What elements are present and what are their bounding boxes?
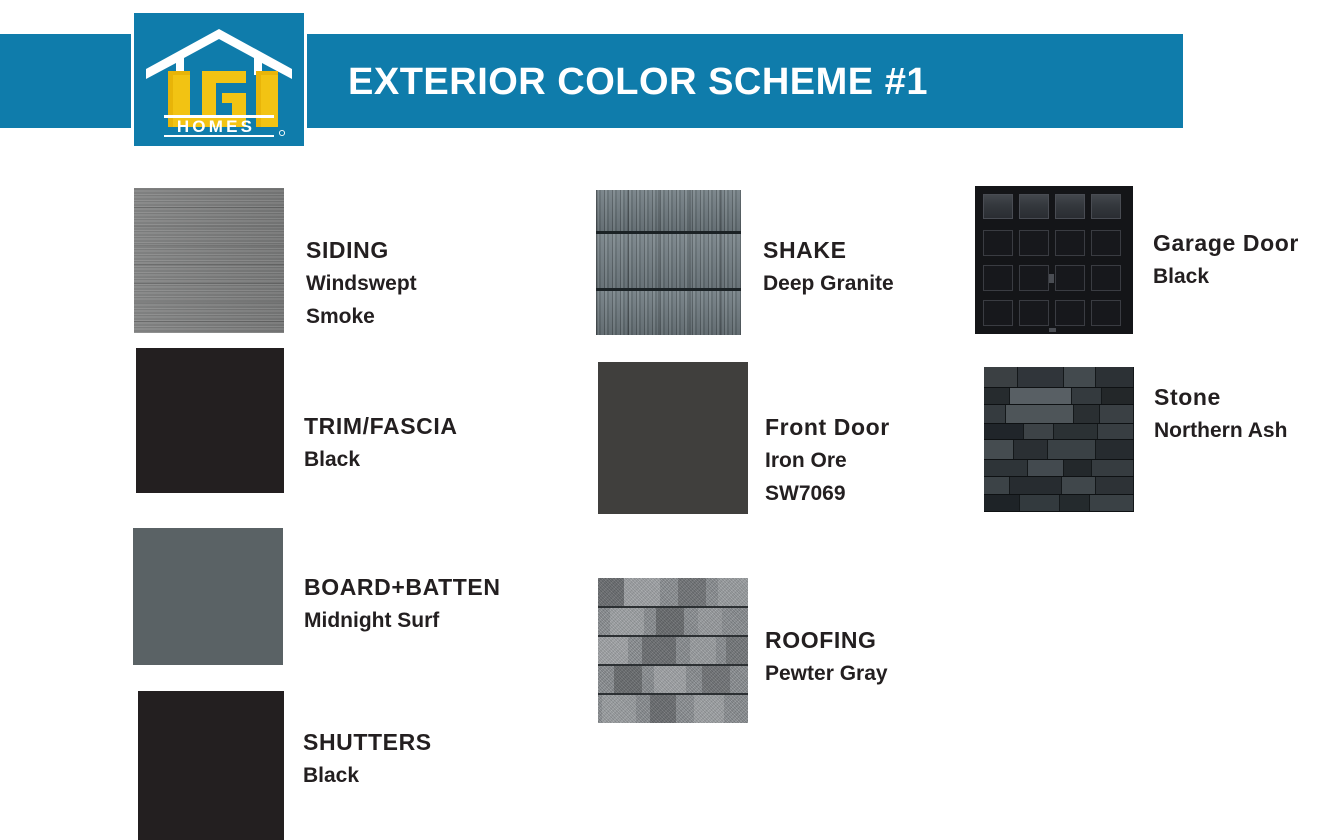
roofing-swatch (598, 578, 748, 723)
shake-swatch (596, 190, 741, 335)
siding-label-sub2: Smoke (306, 300, 417, 333)
garage-door-label-title: Garage Door (1153, 227, 1299, 260)
garage-door-lock-icon (1049, 328, 1056, 332)
trim-fascia-label-sub1: Black (304, 443, 458, 476)
stone-label-sub1: Northern Ash (1154, 414, 1287, 447)
siding-label-sub1: Windswept (306, 267, 417, 300)
swatch-item-trim-fascia: TRIM/FASCIA Black (136, 348, 458, 493)
shake-label-sub1: Deep Granite (763, 267, 894, 300)
swatch-item-shake: SHAKE Deep Granite (596, 190, 894, 335)
shake-label-title: SHAKE (763, 234, 894, 267)
swatch-item-stone: Stone Northern Ash (984, 367, 1287, 512)
front-door-label-sub1: Iron Ore (765, 444, 890, 477)
svg-text:HOMES: HOMES (177, 117, 255, 136)
front-door-label-title: Front Door (765, 411, 890, 444)
swatch-item-garage-door: Garage Door Black (975, 186, 1299, 334)
front-door-label-sub2: SW7069 (765, 477, 890, 510)
shutters-swatch (138, 691, 284, 840)
roofing-label-title: ROOFING (765, 624, 888, 657)
garage-door-label-sub1: Black (1153, 260, 1299, 293)
siding-swatch (134, 188, 284, 333)
garage-door-handle-icon (1049, 274, 1054, 283)
stone-swatch (984, 367, 1134, 512)
swatch-item-siding: SIDING Windswept Smoke (134, 188, 417, 333)
board-batten-label-sub1: Midnight Surf (304, 604, 501, 637)
front-door-swatch (598, 362, 748, 514)
shutters-label-title: SHUTTERS (303, 726, 432, 759)
lgi-homes-logo: HOMES (134, 13, 304, 146)
page-title: EXTERIOR COLOR SCHEME #1 (348, 60, 1148, 104)
board-batten-swatch (133, 528, 283, 665)
roofing-label-sub1: Pewter Gray (765, 657, 888, 690)
swatch-item-roofing: ROOFING Pewter Gray (598, 578, 888, 723)
swatch-item-front-door: Front Door Iron Ore SW7069 (598, 362, 890, 514)
trim-fascia-label-title: TRIM/FASCIA (304, 410, 458, 443)
siding-label-title: SIDING (306, 234, 417, 267)
stone-label-title: Stone (1154, 381, 1287, 414)
board-batten-label-title: BOARD+BATTEN (304, 571, 501, 604)
trim-fascia-swatch (136, 348, 284, 493)
garage-door-swatch (975, 186, 1133, 334)
swatch-item-board-batten: BOARD+BATTEN Midnight Surf (133, 528, 501, 665)
lgi-homes-logo-icon: HOMES (142, 23, 296, 139)
shutters-label-sub1: Black (303, 759, 432, 792)
swatch-item-shutters: SHUTTERS Black (138, 691, 432, 840)
